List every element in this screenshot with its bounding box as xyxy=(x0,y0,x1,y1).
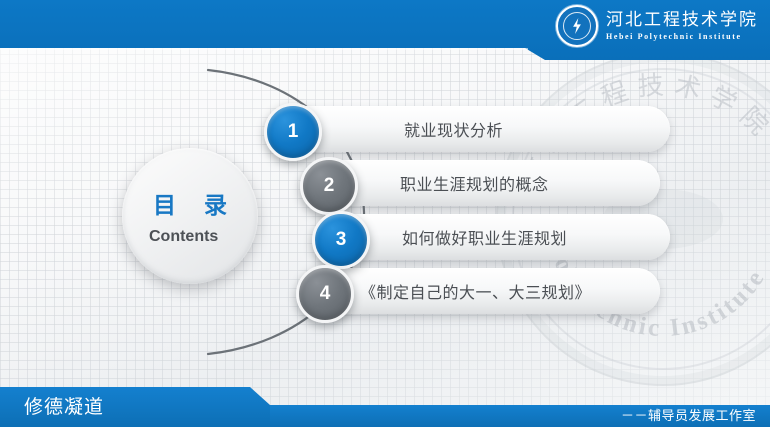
contents-hub: 目 录 Contents xyxy=(122,148,258,284)
agenda-bar-4[interactable]: 《制定自己的大一、大三规划》 xyxy=(318,268,660,314)
agenda-item-3[interactable]: 如何做好职业生涯规划 3 xyxy=(312,214,670,260)
agenda-number-4: 4 xyxy=(320,283,331,305)
footer-motto: 修德凝道 xyxy=(24,392,104,419)
agenda-label-1: 就业现状分析 xyxy=(404,117,503,141)
agenda-bar-1[interactable]: 就业现状分析 xyxy=(284,106,670,152)
agenda-label-4: 《制定自己的大一、大三规划》 xyxy=(360,279,591,303)
agenda-list: 就业现状分析 1 职业生涯规划的概念 2 如何做好职业生涯规划 3 《 xyxy=(0,0,770,427)
agenda-item-2[interactable]: 职业生涯规划的概念 2 xyxy=(300,160,660,206)
agenda-number-1: 1 xyxy=(288,121,299,143)
agenda-number-3: 3 xyxy=(336,229,347,251)
agenda-label-3: 如何做好职业生涯规划 xyxy=(402,225,567,249)
agenda-badge-2[interactable]: 2 xyxy=(300,157,358,215)
agenda-label-2: 职业生涯规划的概念 xyxy=(400,171,549,195)
agenda-bar-2[interactable]: 职业生涯规划的概念 xyxy=(320,160,660,206)
agenda-item-1[interactable]: 就业现状分析 1 xyxy=(264,106,670,152)
agenda-badge-4[interactable]: 4 xyxy=(296,265,354,323)
agenda-number-2: 2 xyxy=(324,175,335,197)
agenda-bar-3[interactable]: 如何做好职业生涯规划 xyxy=(334,214,670,260)
agenda-item-4[interactable]: 《制定自己的大一、大三规划》 4 xyxy=(296,268,660,314)
footer-note: －－辅导员发展工作室 xyxy=(621,405,756,424)
slide-footer: 修德凝道 －－辅导员发展工作室 xyxy=(0,387,770,427)
agenda-badge-3[interactable]: 3 xyxy=(312,211,370,269)
presentation-slide: 河北工程技术学院 Polytechnic Institute 河北工程技术学院 … xyxy=(0,0,770,427)
hub-title-en: Contents xyxy=(149,228,231,245)
agenda-badge-1[interactable]: 1 xyxy=(264,103,322,161)
hub-title-cn: 目 录 xyxy=(143,186,237,220)
